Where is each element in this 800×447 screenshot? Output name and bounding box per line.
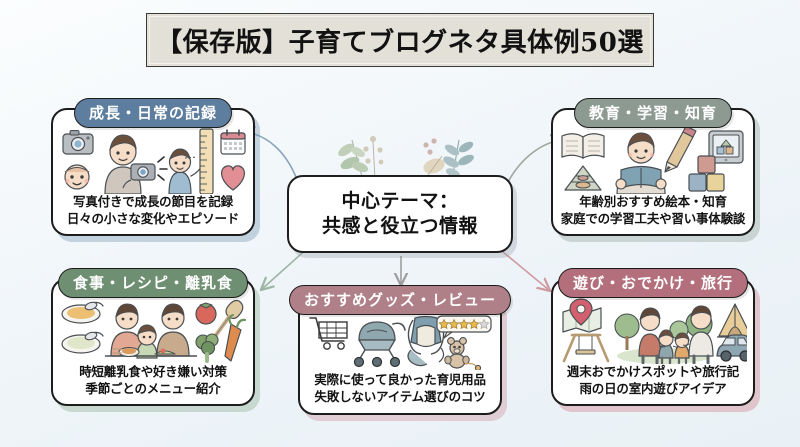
- stroller-icon: [355, 322, 406, 367]
- height-ruler-icon: [200, 129, 213, 194]
- card-education-caption-line1: 年齢別おすすめ絵本・知育: [559, 194, 747, 211]
- tomato-icon: [196, 303, 216, 324]
- baby-face-icon: [65, 165, 89, 189]
- shopping-cart-icon: [310, 318, 347, 349]
- botanical-decoration-left: [336, 136, 383, 180]
- stacking-rings-icon: [565, 166, 601, 190]
- reading-child-icon: [616, 133, 666, 194]
- card-growth-caption-line2: 日々の小さな変化やエピソード: [59, 211, 247, 228]
- card-education[interactable]: 教育・学習・知育: [551, 108, 755, 236]
- card-play-caption: 週末おでかけスポットや旅行記 雨の日の室内遊びアイデア: [553, 364, 753, 405]
- swing-set-icon: [564, 335, 608, 361]
- card-food-caption-line1: 時短離乳食や好き嫌い対策: [59, 364, 247, 381]
- card-education-header: 教育・学習・知育: [574, 98, 732, 128]
- card-play-header: 遊び・おでかけ・旅行: [558, 268, 748, 298]
- center-theme-line1: 中心テーマ：: [341, 190, 458, 213]
- card-food[interactable]: 食事・レシピ・離乳食: [51, 278, 255, 406]
- card-goods[interactable]: おすすめグッズ・レビュー: [298, 295, 502, 415]
- walking-family-icon: [615, 306, 713, 364]
- botanical-decoration-right: [421, 138, 475, 180]
- card-education-caption: 年齢別おすすめ絵本・知育 家庭での学習工夫や習い事体験談: [553, 194, 753, 235]
- card-food-caption: 時短離乳食や好き嫌い対策 季節ごとのメニュー紹介: [53, 364, 253, 405]
- calendar-icon: [221, 130, 245, 154]
- card-food-header: 食事・レシピ・離乳食: [58, 268, 248, 298]
- title-banner-inner: 【保存版】子育てブログネタ具体例50選: [149, 16, 651, 64]
- card-food-caption-line2: 季節ごとのメニュー紹介: [59, 381, 247, 398]
- card-play-caption-line2: 雨の日の室内遊びアイデア: [559, 381, 747, 398]
- card-growth-caption: 写真付きで成長の節目を記録 日々の小さな変化やエピソード: [53, 194, 253, 235]
- card-goods-header: おすすめグッズ・レビュー: [289, 285, 511, 315]
- center-theme-line2: 共感と役立つ情報: [322, 215, 478, 238]
- soup-bowl-icon: [62, 331, 103, 353]
- card-goods-caption-line1: 実際に使って良かった育児用品: [306, 372, 494, 389]
- map-pin-icon: [563, 299, 601, 332]
- father-with-camera-icon: [105, 135, 167, 194]
- heart-icon: [222, 166, 245, 190]
- carrot-icon: [225, 315, 245, 361]
- card-education-caption-line2: 家庭での学習工夫や習い事体験談: [559, 211, 747, 228]
- car-icon: [717, 335, 747, 361]
- card-goods-caption: 実際に使って良かった育児用品 失敗しないアイテム選びのコツ: [300, 372, 500, 413]
- card-growth-header: 成長・日常の記録: [74, 98, 232, 128]
- card-growth-caption-line1: 写真付きで成長の節目を記録: [59, 194, 247, 211]
- teddy-bear-icon: [445, 338, 481, 370]
- toddler-icon: [169, 149, 203, 194]
- broccoli-icon: [196, 334, 218, 361]
- center-theme-node: 中心テーマ： 共感と役立つ情報: [287, 175, 513, 253]
- card-play-caption-line1: 週末おでかけスポットや旅行記: [559, 364, 747, 381]
- page-title: 【保存版】子育てブログネタ具体例50選: [156, 22, 644, 59]
- pencil-icon: [665, 128, 696, 172]
- star-rating-icon: [437, 316, 491, 338]
- camera-icon: [63, 131, 93, 155]
- card-goods-caption-line2: 失敗しないアイテム選びのコツ: [306, 389, 494, 406]
- title-banner: 【保存版】子育てブログネタ具体例50選: [146, 13, 654, 67]
- cooking-family-icon: [105, 304, 197, 358]
- open-book-icon: [562, 134, 604, 158]
- card-play[interactable]: 遊び・おでかけ・旅行: [551, 278, 755, 406]
- baby-food-bowl-icon: [62, 301, 103, 323]
- connector-center-to-play: [497, 247, 549, 290]
- card-growth[interactable]: 成長・日常の記録: [51, 108, 255, 236]
- tent-icon: [717, 304, 747, 337]
